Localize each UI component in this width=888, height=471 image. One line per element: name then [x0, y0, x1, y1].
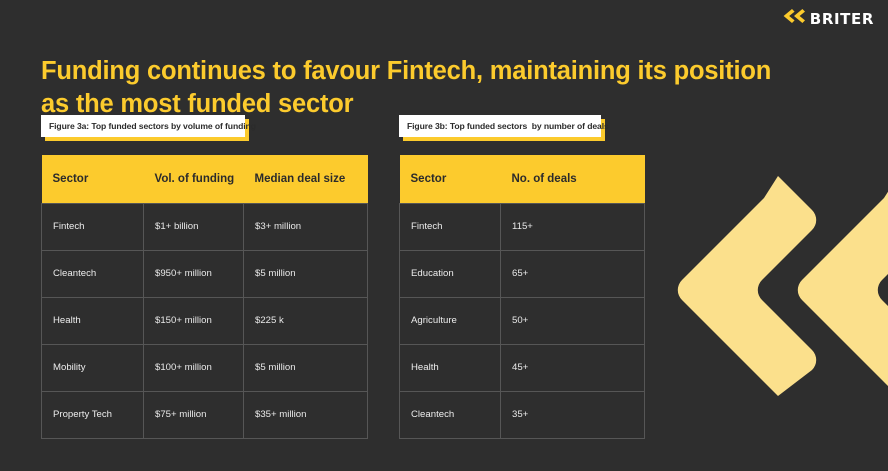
page-title: Funding continues to favour Fintech, mai…	[41, 55, 801, 120]
table-row: Health 45+	[400, 344, 645, 391]
cell-sector: Fintech	[42, 203, 144, 250]
cell-sector: Mobility	[42, 344, 144, 391]
quotation-mark-graphic	[666, 170, 888, 400]
cell-vol-of-funding: $75+ million	[144, 391, 244, 438]
figure-3a-caption-text: Figure 3a: Top funded sectors by volume …	[49, 121, 256, 131]
cell-no-of-deals: 45+	[501, 344, 645, 391]
table-row: Mobility $100+ million $5 million	[42, 344, 368, 391]
table-row: Education 65+	[400, 250, 645, 297]
funding-table-head: Sector Vol. of funding Median deal size	[42, 155, 368, 203]
cell-vol-of-funding: $1+ billion	[144, 203, 244, 250]
cell-median-deal-size: $35+ million	[244, 391, 368, 438]
column-header-no-of-deals: No. of deals	[501, 155, 645, 203]
cell-no-of-deals: 35+	[501, 391, 645, 438]
cell-sector: Education	[400, 250, 501, 297]
cell-sector: Property Tech	[42, 391, 144, 438]
cell-no-of-deals: 65+	[501, 250, 645, 297]
cell-sector: Fintech	[400, 203, 501, 250]
cell-sector: Cleantech	[42, 250, 144, 297]
column-header-vol-of-funding: Vol. of funding	[144, 155, 244, 203]
cell-no-of-deals: 115+	[501, 203, 645, 250]
table-row: Agriculture 50+	[400, 297, 645, 344]
funding-table-body: Fintech $1+ billion $3+ million Cleantec…	[42, 203, 368, 438]
figure-3a-caption: Figure 3a: Top funded sectors by volume …	[41, 115, 245, 137]
table-row: Cleantech 35+	[400, 391, 645, 438]
cell-vol-of-funding: $100+ million	[144, 344, 244, 391]
figure-3b-caption: Figure 3b: Top funded sectors by number …	[399, 115, 601, 137]
column-header-median-deal-size: Median deal size	[244, 155, 368, 203]
cell-median-deal-size: $5 million	[244, 344, 368, 391]
cell-vol-of-funding: $950+ million	[144, 250, 244, 297]
cell-sector: Cleantech	[400, 391, 501, 438]
table-row: Health $150+ million $225 k	[42, 297, 368, 344]
cell-median-deal-size: $5 million	[244, 250, 368, 297]
deal-count-table: Sector No. of deals Fintech 115+ Educati…	[399, 155, 645, 439]
cell-vol-of-funding: $150+ million	[144, 297, 244, 344]
table-row: Property Tech $75+ million $35+ million	[42, 391, 368, 438]
table-header-row: Sector No. of deals	[400, 155, 645, 203]
column-header-sector: Sector	[42, 155, 144, 203]
deals-table-head: Sector No. of deals	[400, 155, 645, 203]
table-header-row: Sector Vol. of funding Median deal size	[42, 155, 368, 203]
table-row: Cleantech $950+ million $5 million	[42, 250, 368, 297]
cell-no-of-deals: 50+	[501, 297, 645, 344]
cell-sector: Health	[42, 297, 144, 344]
cell-sector: Agriculture	[400, 297, 501, 344]
column-header-sector: Sector	[400, 155, 501, 203]
slide-canvas: BRITER Funding continues to favour Finte…	[0, 0, 888, 471]
brand-name: BRITER	[810, 10, 874, 28]
figure-3b-caption-text: Figure 3b: Top funded sectors by number …	[407, 121, 609, 131]
double-chevron-icon	[783, 9, 805, 28]
table-row: Fintech 115+	[400, 203, 645, 250]
briter-logo: BRITER	[783, 9, 874, 28]
cell-sector: Health	[400, 344, 501, 391]
cell-median-deal-size: $225 k	[244, 297, 368, 344]
deals-table-body: Fintech 115+ Education 65+ Agriculture 5…	[400, 203, 645, 438]
table-row: Fintech $1+ billion $3+ million	[42, 203, 368, 250]
funding-volume-table: Sector Vol. of funding Median deal size …	[41, 155, 368, 439]
cell-median-deal-size: $3+ million	[244, 203, 368, 250]
